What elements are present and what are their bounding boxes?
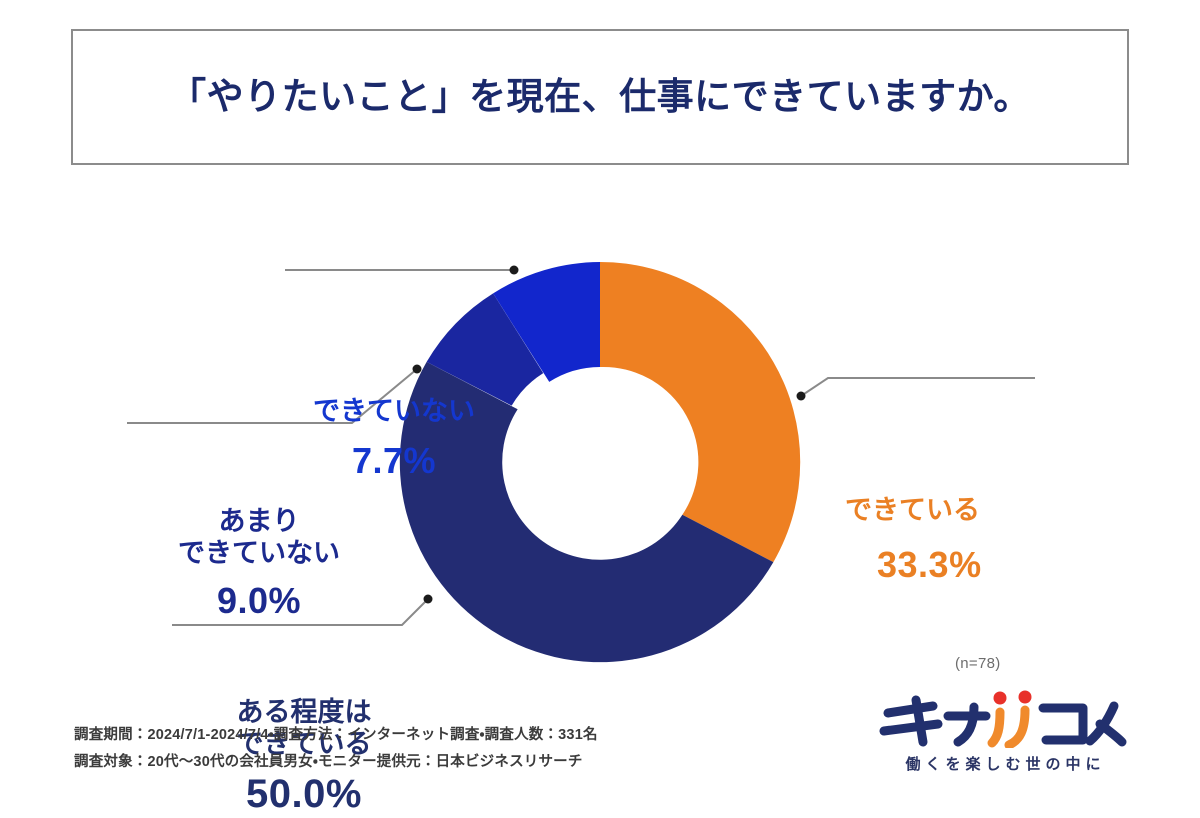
sample-size-label: (n=78) — [955, 655, 1001, 672]
brand-wordmark-icon — [878, 690, 1128, 748]
callout-dekiteiru: できている 33.3% — [845, 495, 982, 586]
survey-notes: 調査期間：2024/7/1-2024/7/4・調査方法：インターネット調査・調査… — [74, 722, 598, 776]
survey-note-line2: 調査対象：20代〜30代の会社員男女・モニター提供元：日本ビジネスリサーチ — [74, 749, 598, 776]
title-box: 「やりたいこと」を現在、仕事にできていますか。 — [71, 29, 1129, 165]
leader-line-dekiteinai — [285, 266, 519, 275]
page-title: 「やりたいこと」を現在、仕事にできていますか。 — [169, 75, 1031, 119]
logo-glyph-ki — [884, 700, 938, 742]
brand-tagline: 働くを楽しむ世の中に — [872, 753, 1134, 774]
logo-dot-right-icon — [1019, 691, 1032, 704]
callout-dekiteinai-percent: 7.7% — [274, 440, 514, 482]
callout-amari-percent: 9.0% — [133, 580, 385, 622]
callout-amari-category-line2: できていない — [133, 538, 385, 570]
logo-glyph-mu — [1090, 706, 1122, 742]
leader-line-dekiteiru — [797, 378, 1036, 401]
callout-dekiteinai-category: できていない — [274, 396, 514, 428]
callout-dekiteinai: できていない 7.7% — [274, 396, 514, 482]
callout-amari: あまり できていない 9.0% — [133, 506, 385, 622]
callout-amari-category-line1: あまり — [133, 506, 385, 538]
callout-dekiteiru-category: できている — [845, 495, 982, 527]
donut-slice-dekiteiru[interactable] — [600, 262, 800, 562]
brand-logo: 働くを楽しむ世の中に — [872, 690, 1134, 774]
donut-chart: できている 33.3% できていない 7.7% あまり できていない 9.0% … — [0, 170, 1200, 690]
callout-dekiteiru-percent: 33.3% — [877, 544, 982, 586]
logo-glyph-ri — [992, 710, 1025, 745]
callout-aruteido-percent: 50.0% — [178, 771, 430, 818]
logo-glyph-ya — [948, 707, 986, 742]
logo-dot-left-icon — [994, 692, 1007, 705]
logo-glyph-ko — [1043, 708, 1083, 740]
survey-note-line1: 調査期間：2024/7/1-2024/7/4・調査方法：インターネット調査・調査… — [74, 722, 598, 749]
